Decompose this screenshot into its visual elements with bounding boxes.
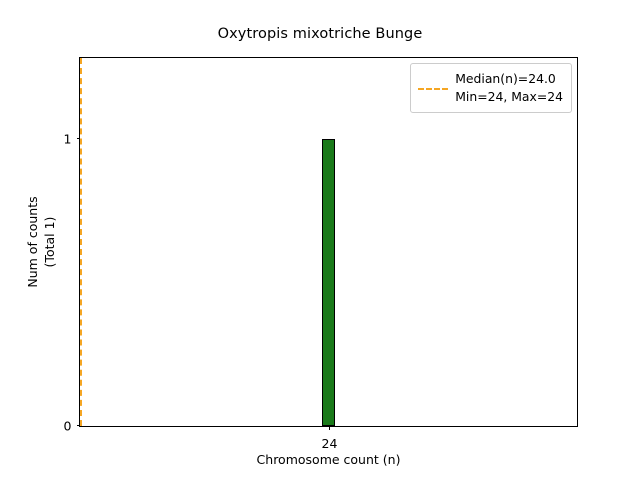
legend-label-minmax: Min=24, Max=24 — [455, 88, 563, 106]
plot-area: 0 1 24 Median(n)=24.0 Min=24, Max=24 — [79, 57, 578, 427]
bar-24 — [322, 139, 334, 427]
median-vline — [80, 58, 82, 426]
xtick-label-24: 24 — [322, 436, 338, 451]
y-axis-label-wrap: Num of counts (Total 1) — [22, 57, 62, 427]
ytick-mark-0: 0 — [77, 425, 81, 426]
y-axis-label-line2: (Total 1) — [42, 196, 59, 287]
legend: Median(n)=24.0 Min=24, Max=24 — [410, 63, 572, 113]
legend-entry-text: Median(n)=24.0 Min=24, Max=24 — [455, 70, 563, 106]
xtick-mark-24: 24 — [329, 426, 330, 430]
chart-figure: Oxytropis mixotriche Bunge 0 1 24 Median… — [0, 0, 640, 480]
y-axis-label: Num of counts (Total 1) — [25, 196, 59, 287]
ytick-label-0: 0 — [64, 419, 72, 434]
ytick-label-1: 1 — [64, 131, 72, 146]
x-axis-label: Chromosome count (n) — [79, 452, 578, 467]
ytick-mark-1: 1 — [77, 138, 81, 139]
legend-label-median: Median(n)=24.0 — [455, 70, 563, 88]
dashed-line-icon — [418, 82, 448, 94]
y-axis-label-line1: Num of counts — [25, 196, 40, 287]
legend-entry-median: Median(n)=24.0 Min=24, Max=24 — [418, 70, 563, 106]
page-title: Oxytropis mixotriche Bunge — [0, 26, 640, 42]
